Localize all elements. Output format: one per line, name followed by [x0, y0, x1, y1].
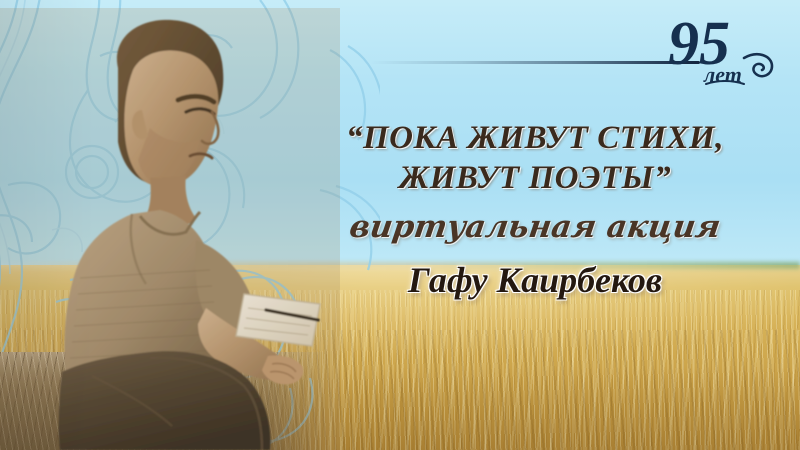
header-rule-line [370, 61, 700, 64]
grass-foreground [0, 352, 330, 450]
event-subtitle: виртуальная акция [297, 208, 772, 246]
quote-line-2: ЖИВУТ ПОЭТЫ” [300, 158, 770, 198]
poster-text-block: “ПОКА ЖИВУТ СТИХИ, ЖИВУТ ПОЭТЫ” виртуаль… [300, 118, 770, 302]
poster-canvas: 95 лет “ПОКА ЖИВУТ СТИХИ, ЖИВУТ ПОЭТЫ” в… [0, 0, 800, 450]
anniversary-logo-95-let: 95 лет [666, 6, 786, 90]
quote-line-1: “ПОКА ЖИВУТ СТИХИ, [300, 118, 770, 158]
author-name: Гафу Каирбеков [300, 258, 770, 302]
